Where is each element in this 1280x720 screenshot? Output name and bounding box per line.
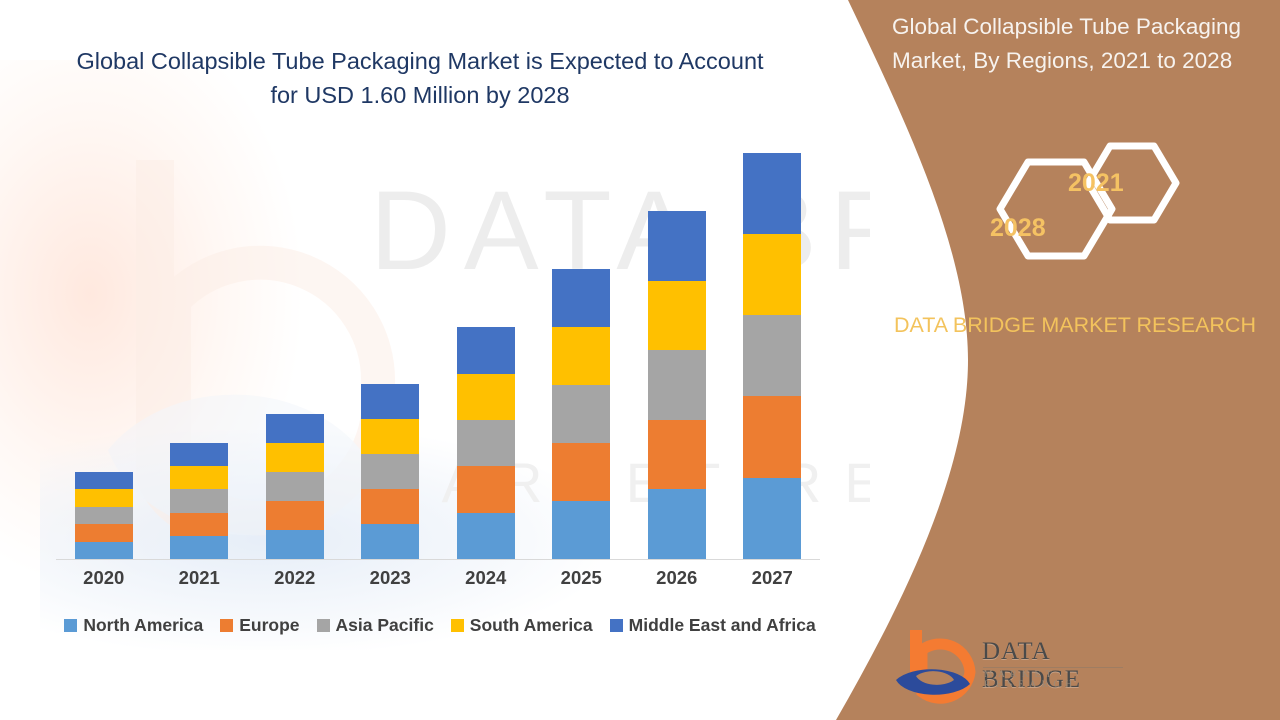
bar-segment[interactable] [266, 501, 324, 530]
x-axis-tick-label: 2025 [534, 567, 630, 589]
bar-segment[interactable] [170, 489, 228, 512]
bar-segment[interactable] [457, 466, 515, 512]
bar-segment[interactable] [266, 472, 324, 501]
bar-segment[interactable] [648, 420, 706, 490]
legend-swatch-icon [451, 619, 464, 632]
stacked-bar[interactable] [75, 472, 133, 559]
bar-segment[interactable] [75, 524, 133, 541]
x-axis-tick-label: 2024 [438, 567, 534, 589]
hexagon-2028-label: 2028 [990, 214, 1046, 243]
stacked-bar[interactable] [648, 211, 706, 559]
bar-slot [152, 160, 248, 559]
x-axis-tick-label: 2027 [725, 567, 821, 589]
x-axis-tick-label: 2020 [56, 567, 152, 589]
bar-segment[interactable] [552, 269, 610, 327]
plot-area [56, 160, 820, 560]
brand-name: DATA BRIDGE MARKET RESEARCH [870, 310, 1280, 341]
bar-segment[interactable] [361, 489, 419, 524]
stacked-bar[interactable] [552, 269, 610, 559]
bar-segment[interactable] [648, 350, 706, 420]
bar-segment[interactable] [75, 507, 133, 524]
legend-swatch-icon [64, 619, 77, 632]
data-bridge-logo: DATA BRIDGE MARKET RESEARCH [890, 628, 1130, 706]
legend-label: Europe [239, 615, 299, 636]
bar-segment[interactable] [170, 536, 228, 559]
bar-segment[interactable] [743, 234, 801, 315]
logo-tagline: MARKET RESEARCH [984, 670, 1130, 690]
stacked-bar[interactable] [457, 327, 515, 559]
bar-segment[interactable] [361, 454, 419, 489]
bar-segment[interactable] [648, 211, 706, 281]
legend-label: Middle East and Africa [629, 615, 816, 636]
hexagons-icon [980, 136, 1190, 281]
legend-item[interactable]: Asia Pacific [317, 615, 434, 636]
x-axis-tick-label: 2022 [247, 567, 343, 589]
bar-segment[interactable] [648, 489, 706, 559]
stacked-bar[interactable] [743, 153, 801, 559]
legend-item[interactable]: Middle East and Africa [610, 615, 816, 636]
right-panel-content: Global Collapsible Tube Packaging Market… [870, 0, 1280, 720]
bar-slot [343, 160, 439, 559]
bar-segment[interactable] [75, 542, 133, 559]
x-axis-line [56, 559, 820, 560]
x-axis-tick-labels: 20202021202220232024202520262027 [56, 567, 820, 589]
bar-segment[interactable] [457, 513, 515, 559]
x-axis-tick-label: 2021 [152, 567, 248, 589]
bar-segment[interactable] [170, 513, 228, 536]
bar-slot [56, 160, 152, 559]
legend-label: South America [470, 615, 593, 636]
legend-label: North America [83, 615, 203, 636]
legend-label: Asia Pacific [336, 615, 434, 636]
logo-divider [983, 667, 1123, 668]
bar-segment[interactable] [743, 153, 801, 234]
x-axis-tick-label: 2023 [343, 567, 439, 589]
chart-legend: North AmericaEuropeAsia PacificSouth Ame… [56, 615, 824, 636]
bar-segment[interactable] [266, 414, 324, 443]
bar-segment[interactable] [552, 443, 610, 501]
panel-title: Global Collapsible Tube Packaging Market… [892, 10, 1280, 78]
bar-segment[interactable] [266, 443, 324, 472]
bar-segment[interactable] [552, 385, 610, 443]
bar-segment[interactable] [457, 420, 515, 466]
bar-segment[interactable] [170, 466, 228, 489]
bar-group [56, 160, 820, 559]
bar-slot [534, 160, 630, 559]
legend-item[interactable]: North America [64, 615, 203, 636]
bar-segment[interactable] [170, 443, 228, 466]
chart-pane: DATA BRIDGE MARKET RESEARCH Global Colla… [0, 0, 870, 720]
bar-segment[interactable] [361, 524, 419, 559]
bar-segment[interactable] [552, 501, 610, 559]
bar-segment[interactable] [457, 374, 515, 420]
bar-segment[interactable] [743, 315, 801, 396]
stacked-bar[interactable] [266, 414, 324, 559]
bar-segment[interactable] [552, 327, 610, 385]
legend-item[interactable]: Europe [220, 615, 299, 636]
slide-canvas: DATA BRIDGE MARKET RESEARCH Global Colla… [0, 0, 1280, 720]
legend-item[interactable]: South America [451, 615, 593, 636]
legend-swatch-icon [610, 619, 623, 632]
bar-slot [438, 160, 534, 559]
bar-segment[interactable] [75, 472, 133, 489]
bar-segment[interactable] [266, 530, 324, 559]
bar-slot [629, 160, 725, 559]
bar-segment[interactable] [743, 478, 801, 559]
stacked-bar[interactable] [361, 384, 419, 559]
data-bridge-mark-icon [890, 628, 980, 704]
bar-slot [247, 160, 343, 559]
stacked-bar[interactable] [170, 443, 228, 559]
hexagon-2021-label: 2021 [1068, 169, 1124, 198]
bar-segment[interactable] [75, 489, 133, 506]
bar-segment[interactable] [457, 327, 515, 373]
legend-swatch-icon [317, 619, 330, 632]
legend-swatch-icon [220, 619, 233, 632]
hexagon-group: 2021 2028 [980, 136, 1190, 281]
bar-segment[interactable] [361, 419, 419, 454]
bar-segment[interactable] [361, 384, 419, 419]
bar-segment[interactable] [743, 396, 801, 477]
page-title: Global Collapsible Tube Packaging Market… [70, 44, 770, 112]
bar-segment[interactable] [648, 281, 706, 351]
bar-slot [725, 160, 821, 559]
x-axis-tick-label: 2026 [629, 567, 725, 589]
